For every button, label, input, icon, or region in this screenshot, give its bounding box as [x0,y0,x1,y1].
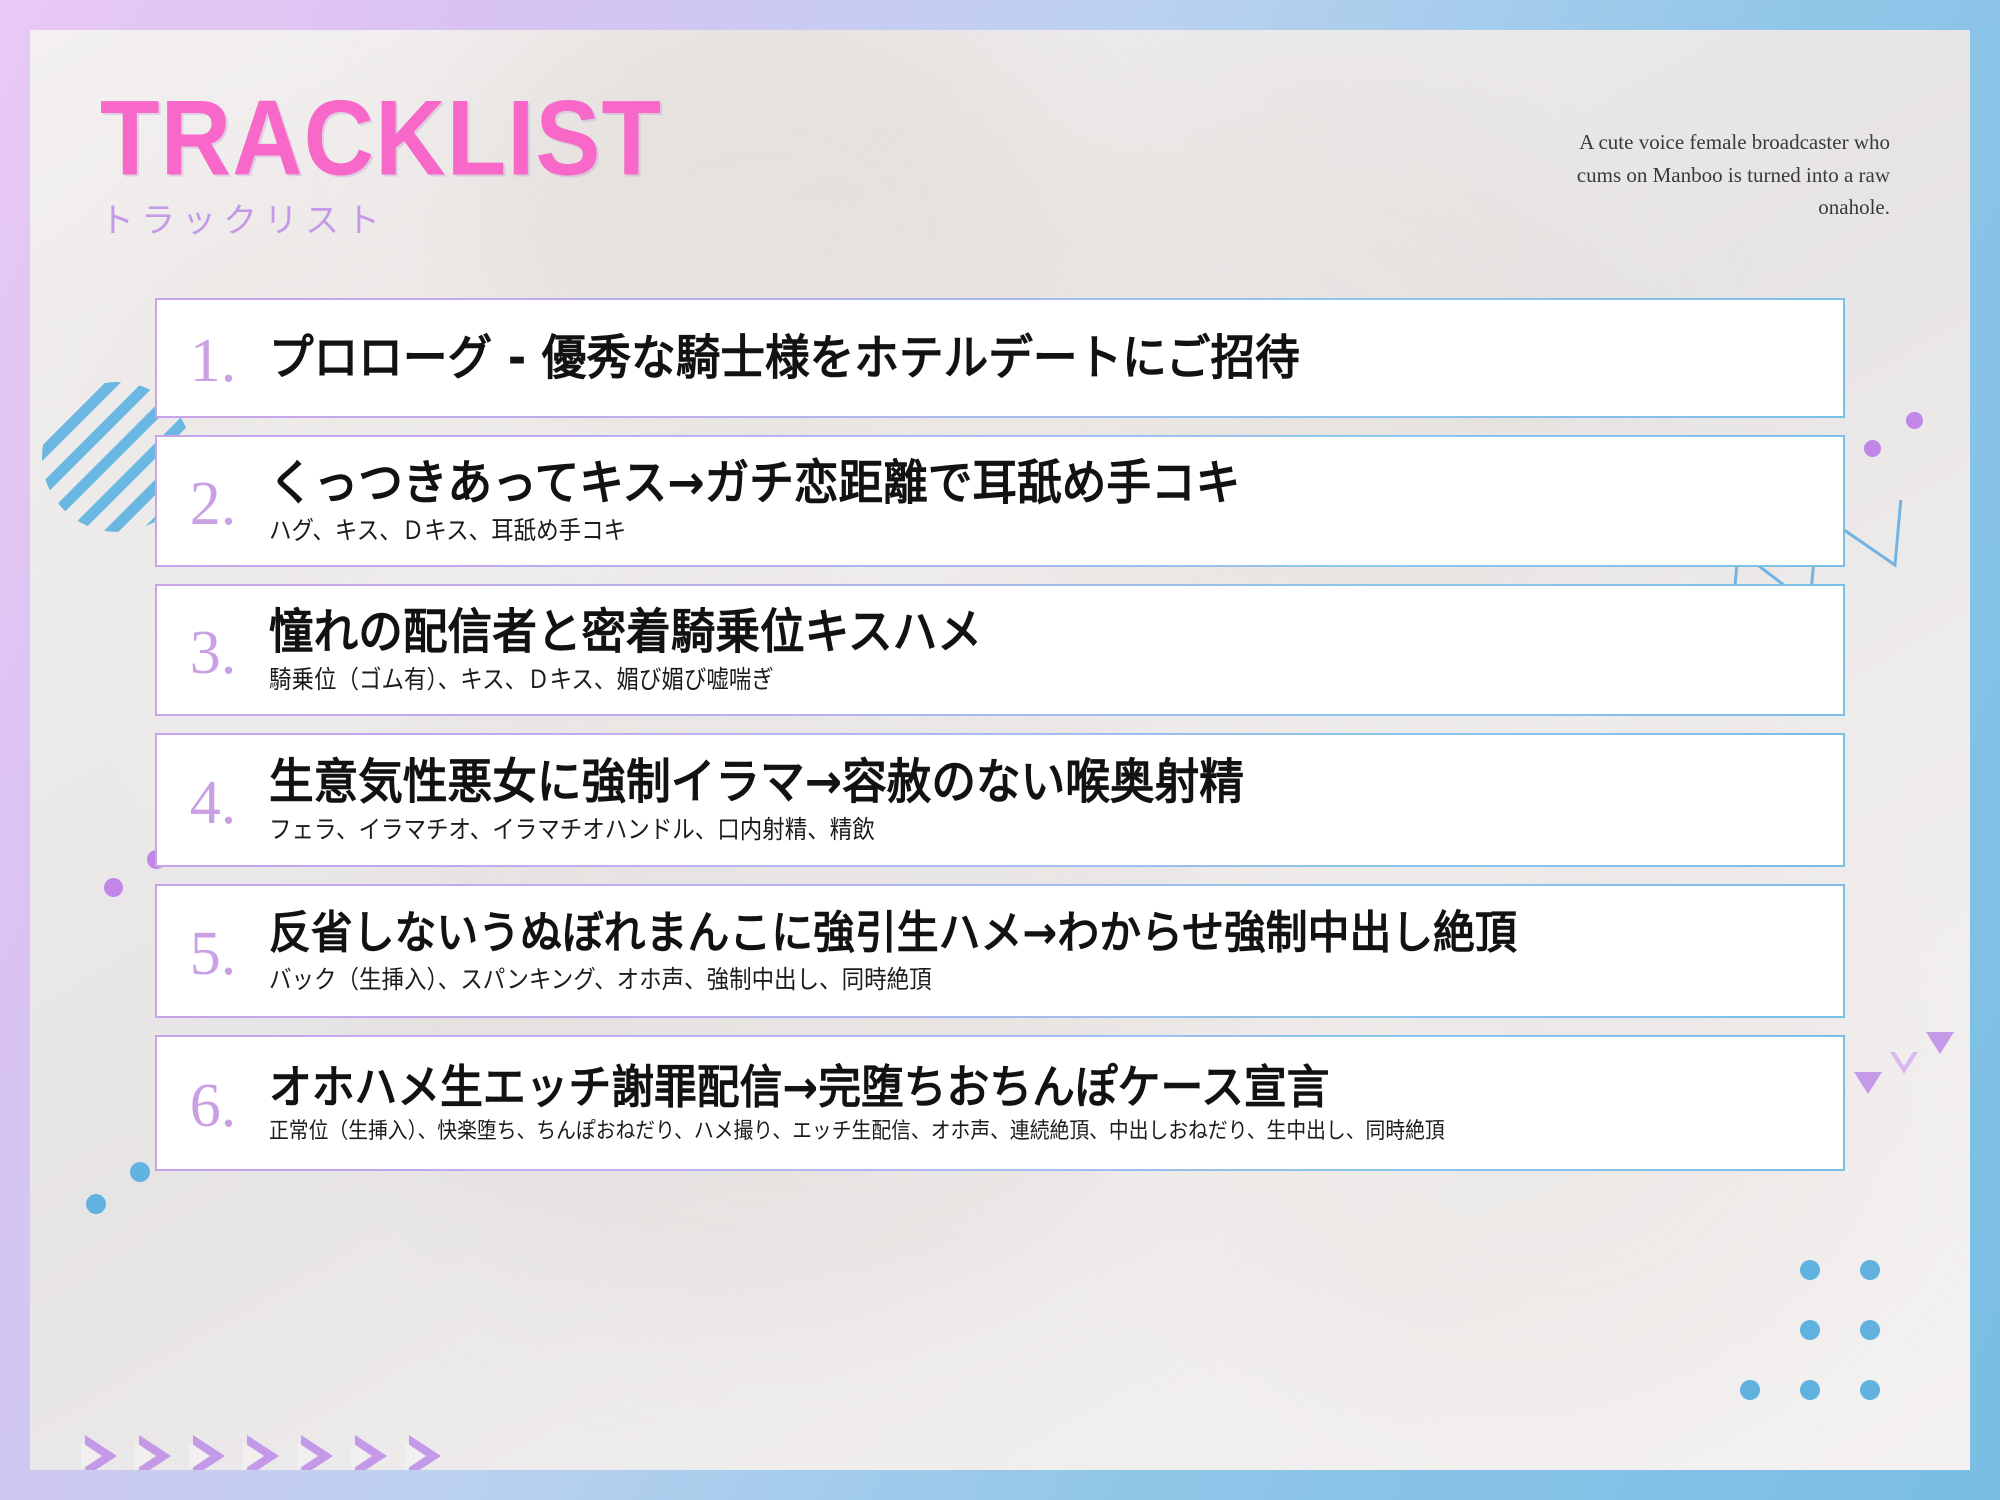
triangle-outline-icon [193,1435,225,1470]
dot [1740,1380,1760,1400]
track-title: オホハメ生エッチ謝罪配信→完堕ちおちんぽケース宣言 [269,1061,1711,1113]
track-body: オホハメ生エッチ謝罪配信→完堕ちおちんぽケース宣言 正常位（生挿入）、快楽堕ち、… [269,1061,1843,1146]
dot [1800,1380,1820,1400]
track-tags: フェラ、イラマチオ、イラマチオハンドル、口内射精、精飲 [269,815,1664,845]
track-tags: 騎乗位（ゴム有）、キス、Ｄキス、媚び媚び嘘喘ぎ [269,665,1664,695]
dot [86,1194,106,1214]
triangle-outline-icon [139,1435,171,1470]
track-number: 6. [157,1069,269,1137]
track-row[interactable]: 6. オホハメ生エッチ謝罪配信→完堕ちおちんぽケース宣言 正常位（生挿入）、快楽… [155,1035,1845,1171]
track-row[interactable]: 2. くっつきあってキス→ガチ恋距離で耳舐め手コキ ハグ、キス、Ｄキス、耳舐め手… [155,435,1845,567]
track-row[interactable]: 4. 生意気性悪女に強制イラマ→容赦のない喉奥射精 フェラ、イラマチオ、イラマチ… [155,733,1845,867]
triangle-outline-icon [355,1435,387,1470]
page-subtitle: トラックリスト [100,193,630,242]
track-number: 3. [157,616,269,684]
dot [1860,1260,1880,1280]
dot [1860,1320,1880,1340]
dot [1864,440,1881,457]
dot [130,1162,150,1182]
track-title: 生意気性悪女に強制イラマ→容赦のない喉奥射精 [269,755,1711,810]
track-row[interactable]: 1. プロローグ - 優秀な騎士様をホテルデートにご招待 [155,298,1845,418]
track-body: プロローグ - 優秀な騎士様をホテルデートにご招待 [269,331,1843,386]
poster-card: TRACKLIST トラックリスト A cute voice female br… [30,30,1970,1470]
triangle-outline-icon [1890,1052,1918,1074]
tracklist: 1. プロローグ - 優秀な騎士様をホテルデートにご招待 2. くっつきあってキ… [155,298,1845,1188]
triangle-icon [1926,1032,1954,1054]
track-title: くっつきあってキス→ガチ恋距離で耳舐め手コキ [269,456,1711,511]
triangle-outline-icon [409,1435,441,1470]
track-number: 2. [157,467,269,535]
tagline-text: A cute voice female broadcaster who cums… [1560,126,1890,224]
track-row[interactable]: 3. 憧れの配信者と密着騎乗位キスハメ 騎乗位（ゴム有）、キス、Ｄキス、媚び媚び… [155,584,1845,716]
track-number: 5. [157,917,269,985]
track-title: 憧れの配信者と密着騎乗位キスハメ [269,605,1711,660]
dot [1906,412,1923,429]
track-body: 憧れの配信者と密着騎乗位キスハメ 騎乗位（ゴム有）、キス、Ｄキス、媚び媚び嘘喘ぎ [269,605,1843,696]
poster-header: TRACKLIST トラックリスト A cute voice female br… [30,30,1970,250]
track-tags: 正常位（生挿入）、快楽堕ち、ちんぽおねだり、ハメ撮り、エッチ生配信、オホ声、連続… [269,1119,1664,1145]
track-tags: バック（生挿入）、スパンキング、オホ声、強制中出し、同時絶頂 [269,965,1664,995]
track-row[interactable]: 5. 反省しないうぬぼれまんこに強引生ハメ→わからせ強制中出し絶頂 バック（生挿… [155,884,1845,1018]
track-title: 反省しないうぬぼれまんこに強引生ハメ→わからせ強制中出し絶頂 [269,907,1711,958]
right-arrow-triangle-row [85,1435,441,1470]
poster-root: TRACKLIST トラックリスト A cute voice female br… [0,0,2000,1500]
page-title: TRACKLIST [100,85,662,192]
track-number: 1. [157,324,269,392]
dot [1800,1320,1820,1340]
triangle-outline-icon [301,1435,333,1470]
title-block: TRACKLIST トラックリスト [100,85,630,242]
track-body: 反省しないうぬぼれまんこに強引生ハメ→わからせ強制中出し絶頂 バック（生挿入）、… [269,907,1843,994]
blue-dot-grid [1790,1260,1950,1450]
dot [1860,1380,1880,1400]
track-number: 4. [157,766,269,834]
track-body: 生意気性悪女に強制イラマ→容赦のない喉奥射精 フェラ、イラマチオ、イラマチオハン… [269,755,1843,846]
track-tags: ハグ、キス、Ｄキス、耳舐め手コキ [269,516,1664,546]
dot [104,878,123,897]
triangle-outline-icon [247,1435,279,1470]
track-body: くっつきあってキス→ガチ恋距離で耳舐め手コキ ハグ、キス、Ｄキス、耳舐め手コキ [269,456,1843,547]
triangle-outline-icon [85,1435,117,1470]
track-title: プロローグ - 優秀な騎士様をホテルデートにご招待 [269,331,1711,386]
